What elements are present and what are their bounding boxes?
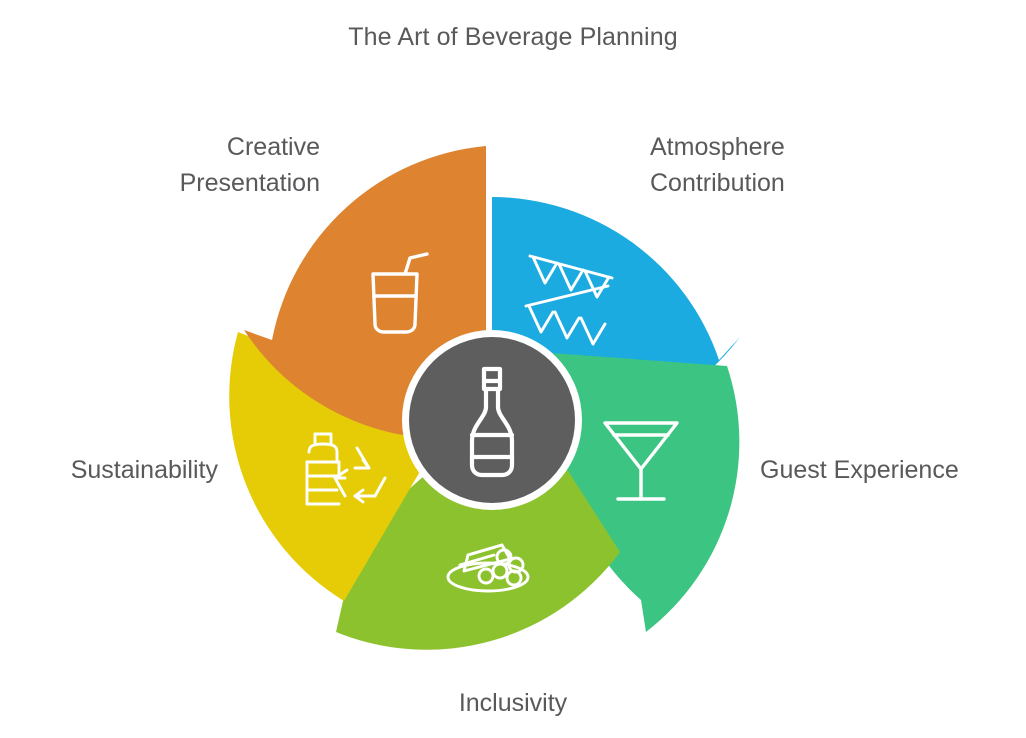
center-hub-circle[interactable] <box>409 337 575 503</box>
diagram-canvas: The Art of Beverage Planning <box>0 0 1026 738</box>
petal-wheel <box>0 0 1026 738</box>
label-sustainability: Sustainability <box>0 453 218 489</box>
center-hub[interactable] <box>402 330 582 510</box>
label-atmosphere-contribution: Atmosphere Contribution <box>650 130 950 201</box>
label-guest-experience: Guest Experience <box>760 453 1026 489</box>
label-inclusivity: Inclusivity <box>0 686 1026 722</box>
label-creative-presentation: Creative Presentation <box>20 130 320 201</box>
